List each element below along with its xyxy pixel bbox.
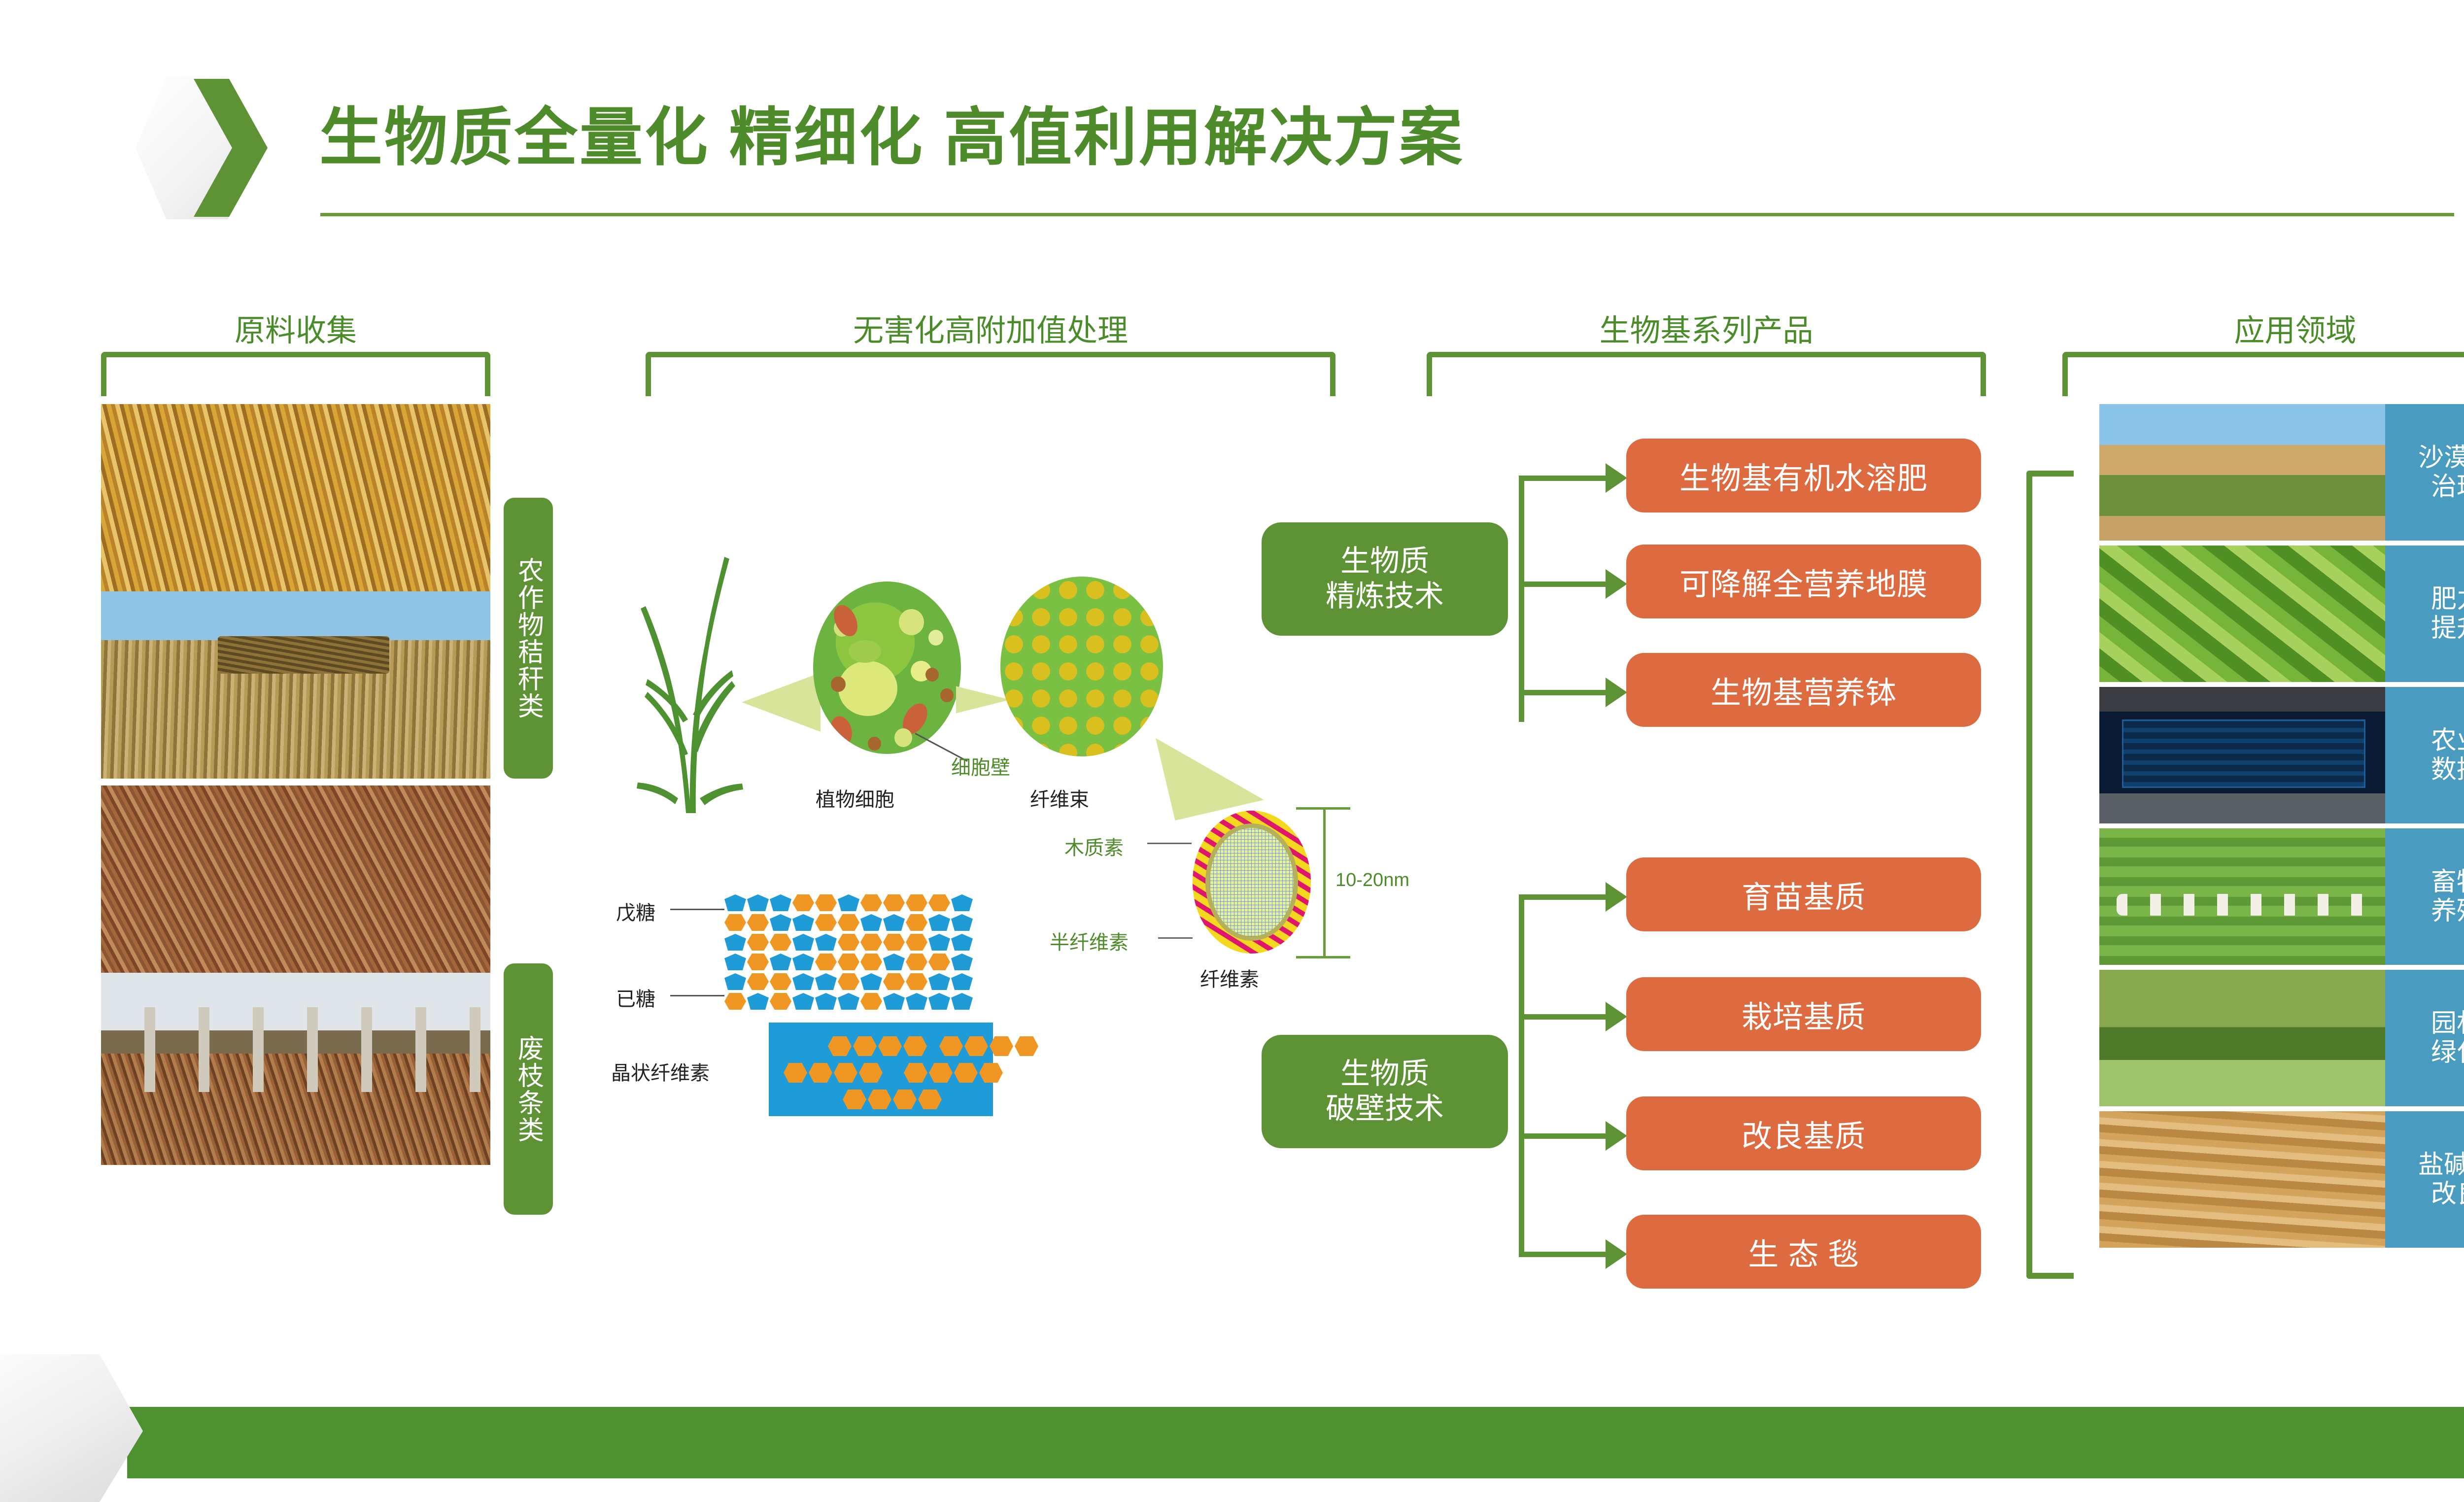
product-pill-biodegradable-mulch-film[interactable]: 可降解全营养地膜 [1626,545,1981,618]
section-label: 原料收集 [235,306,357,350]
sugar-row [724,973,1069,991]
dimension-cap-top [1296,807,1350,810]
label-plant-cell: 植物细胞 [816,784,894,812]
application-row-landscaping[interactable]: 园林绿化 [2099,970,2464,1106]
tech-pill-wall-breaking[interactable]: 生物质破壁技术 [1262,1035,1508,1148]
section-bracket [101,352,490,396]
feedstock-tag-straw: 农作物秸秆类 [504,498,553,779]
application-label-agri-data: 农业数据 [2385,687,2464,823]
product-pill-water-soluble-fertilizer[interactable]: 生物基有机水溶肥 [1626,439,1981,512]
app-line1: 沙漠化 [2418,444,2464,472]
label-cellulose: 纤维素 [1200,963,1259,992]
cellulose-hex-row [784,1063,1004,1083]
label-cell-wall: 细胞壁 [951,751,1010,780]
connector-arm [1519,1014,1608,1020]
feedstock-photo-column [101,404,490,1165]
application-row-saline-land[interactable]: 盐碱地改良 [2099,1111,2464,1248]
organelle [894,728,912,748]
connector-arm [1519,1133,1608,1139]
dimension-cap-bottom [1296,956,1350,958]
application-label-fertility: 肥力提升 [2385,546,2464,682]
connector-arm [1519,894,1608,900]
connector-arm [1519,581,1608,587]
product-pill-cultivation-substrate[interactable]: 栽培基质 [1626,977,1981,1051]
plastid [827,714,855,748]
section-label: 生物基系列产品 [1599,306,1813,350]
crystalline-cellulose-panel [769,1023,993,1116]
mitochondrion [925,668,939,682]
plant-cell-illustration [813,581,961,754]
app-line2: 治理 [2431,473,2464,501]
title-bar: 生物质全量化 精细化 高值利用解决方案 [0,0,2464,256]
arrow-head-icon [1606,1239,1627,1269]
label-fiber-bundle: 纤维束 [1030,784,1089,812]
application-row-desertification[interactable]: 沙漠化治理 [2099,404,2464,541]
arrow-head-icon [1606,569,1627,599]
leader-line-pentose [670,909,724,910]
tech-line2: 精炼技术 [1326,580,1444,613]
app-line1: 农业 [2431,726,2464,755]
product-pill-ecological-blanket[interactable]: 生 态 毯 [1626,1215,1981,1289]
fiber-bundle-illustration [1000,577,1163,756]
sugar-row [724,993,1069,1011]
app-line1: 肥力 [2431,585,2464,614]
app-line2: 提升 [2431,614,2464,643]
fiber-cells-pattern [1000,577,1163,756]
label-hexose: 已糖 [616,983,655,1012]
photo-orchard-pruning [101,973,490,1165]
connector-spine-refining [1519,476,1524,722]
app-line2: 养殖 [2431,897,2464,925]
applications-bracket [2026,471,2074,1279]
magnify-cone-3 [1156,727,1264,820]
label-pentose: 戊糖 [616,897,655,925]
cellulose-hex-row [828,1036,1040,1056]
application-label-desertification: 沙漠化治理 [2385,404,2464,541]
connector-arm [1519,1252,1608,1257]
mitochondrion [831,677,846,692]
sugar-row [724,914,1069,932]
magnify-cone-1 [742,673,821,732]
organelle [928,630,943,646]
arrow-head-icon [1606,1002,1627,1031]
leader-line-hemicellulose [1158,937,1193,939]
photo-straw-bale [101,591,490,779]
arrow-head-icon [1606,882,1627,912]
photo-corn-stalks [101,404,490,591]
photo-pruned-branches [101,785,490,973]
section-bracket [646,352,1335,396]
leader-line-hexose [670,995,724,996]
app-line1: 盐碱地 [2418,1151,2464,1179]
footer-bar [127,1407,2464,1478]
app-line1: 畜牧 [2431,868,2464,896]
section-bracket [1427,352,1986,396]
bale-shape [218,636,389,674]
hexagon-logo-icon [136,76,293,219]
application-label-livestock: 畜牧养殖 [2385,828,2464,965]
application-column: 沙漠化治理 肥力提升 农业数据 畜牧养殖 园林绿化 盐碱地改良 [2099,404,2464,1253]
sugar-row [724,954,1069,971]
footer-hexagon-decoration [0,1354,143,1502]
app-line2: 改良 [2431,1180,2464,1208]
page-title: 生物质全量化 精细化 高值利用解决方案 [319,86,1464,177]
feedstock-tag-branches: 废枝条类 [504,963,553,1215]
section-label: 应用领域 [2234,306,2356,350]
label-nanometer-range: 10-20nm [1335,870,1409,891]
application-row-livestock[interactable]: 畜牧养殖 [2099,828,2464,965]
app-line2: 绿化 [2431,1038,2464,1067]
tech-line2: 破壁技术 [1326,1092,1444,1125]
product-pill-improvement-substrate[interactable]: 改良基质 [1626,1096,1981,1170]
application-image-sheep-grassland [2099,828,2385,965]
connector-arm [1519,690,1608,695]
cellulose-core [1205,823,1298,941]
application-row-fertility[interactable]: 肥力提升 [2099,546,2464,682]
application-image-saline-soil [2099,1111,2385,1248]
product-pill-nutrient-pot[interactable]: 生物基营养钵 [1626,653,1981,727]
app-line2: 数据 [2431,755,2464,784]
organelle [899,609,924,635]
sugar-row [724,934,1069,952]
organelle [868,737,881,751]
plastid [829,601,862,640]
fence-posts [101,1007,490,1092]
title-underline [320,213,2454,216]
application-image-park-greenway [2099,970,2385,1106]
section-bracket [2062,352,2464,396]
tech-line1: 生物质 [1340,1057,1429,1090]
application-label-landscaping: 园林绿化 [2385,970,2464,1106]
sugar-chain-diagram [724,894,1069,1008]
application-image-cabbage-field [2099,546,2385,682]
arrow-head-icon [1606,678,1627,707]
arrow-head-icon [1606,1121,1627,1151]
arrow-head-icon [1606,463,1627,493]
vacuole-shape [838,661,897,716]
leader-line-lignin [1147,843,1192,844]
dimension-line [1323,807,1326,957]
section-label: 无害化高附加值处理 [853,306,1128,350]
application-image-control-room-dashboard [2099,687,2385,823]
application-image-desert-restoration [2099,404,2385,541]
tech-pill-refining[interactable]: 生物质精炼技术 [1262,522,1508,636]
cellulose-cross-section [1193,811,1311,954]
label-crystalline-cellulose: 晶状纤维素 [611,1057,710,1086]
app-line1: 园林 [2431,1009,2464,1038]
organelle [849,640,881,663]
cellulose-hex-row [843,1090,943,1109]
product-pill-seedling-substrate[interactable]: 育苗基质 [1626,857,1981,931]
grass-plant-icon [631,552,744,813]
mitochondrion [940,688,954,702]
application-label-saline-land: 盐碱地改良 [2385,1111,2464,1248]
tech-line1: 生物质 [1340,545,1429,578]
connector-spine-wall-breaking [1519,894,1524,1254]
label-lignin: 木质素 [1064,832,1124,860]
connector-arm [1519,476,1608,481]
application-row-agri-data[interactable]: 农业数据 [2099,687,2464,823]
sugar-row [724,894,1069,912]
